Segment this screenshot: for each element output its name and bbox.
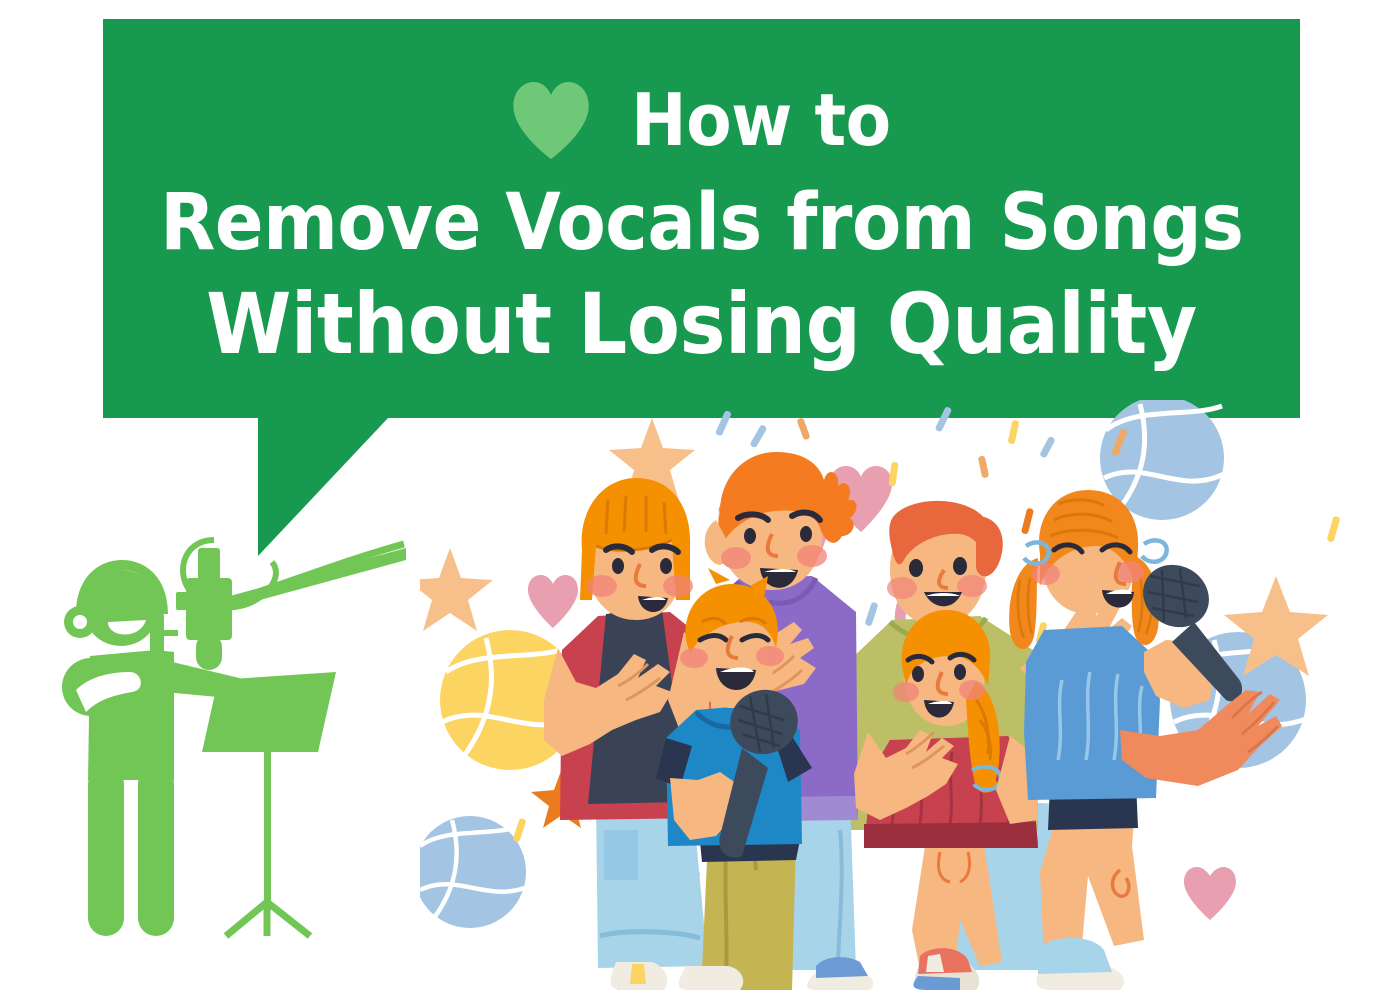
star-peach-left	[420, 548, 493, 631]
title-line-1: How to	[631, 84, 891, 156]
karaoke-group-illustration	[420, 400, 1360, 990]
title-line-2: Remove Vocals from Songs	[160, 184, 1243, 262]
person-woman-blue-dress	[1009, 490, 1282, 968]
music-stand-icon	[202, 672, 336, 936]
ball-blue-bottom-left	[420, 816, 530, 928]
studio-singer-graphic	[46, 530, 406, 940]
title-line-1-row: How to	[512, 80, 891, 160]
heart-pink-bottom-right	[1184, 867, 1236, 920]
title-line-3: Without Losing Quality	[206, 282, 1197, 366]
heart-icon	[512, 80, 591, 160]
title-block: How to Remove Vocals from Songs Without …	[103, 19, 1300, 418]
poster-canvas: How to Remove Vocals from Songs Without …	[0, 0, 1400, 990]
heart-pink-left	[528, 575, 578, 628]
